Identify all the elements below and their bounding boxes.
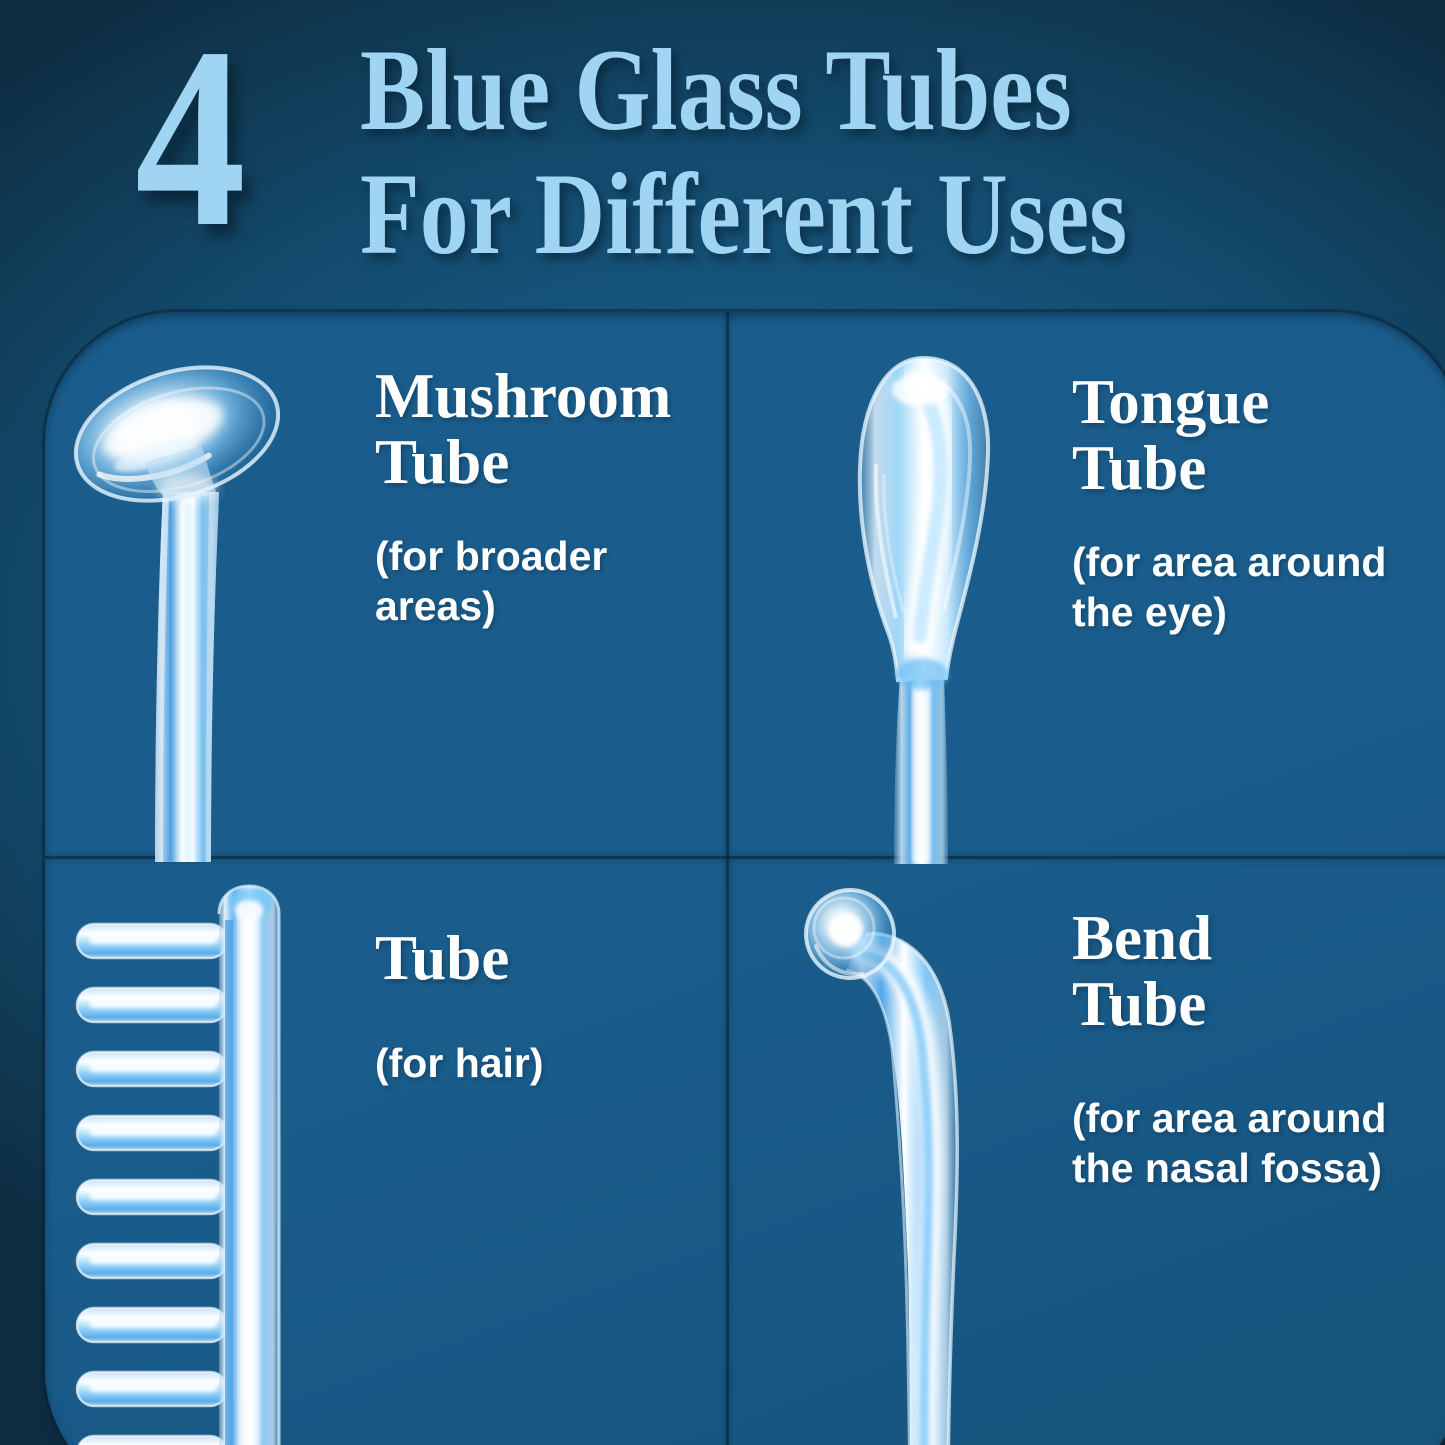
tube-cell-comb: Tube (for hair) [45,858,754,1445]
tube-name: Tube [375,926,735,992]
comb-tube-labels: Tube (for hair) [375,926,735,1088]
tube-use: (for hair) [375,1038,735,1088]
title-line-1: Blue Glass Tubes [360,24,1072,158]
tongue-tube-labels: Tongue Tube (for area around the eye) [1072,370,1445,637]
tube-use: (for area around the nasal fossa) [1072,1093,1445,1193]
tube-cell-mushroom: Mushroom Tube (for broader areas) [45,312,754,858]
tube-use: (for broader areas) [375,531,735,631]
tubes-panel: Mushroom Tube (for broader areas) [45,312,1445,1445]
tube-name: Tongue Tube [1072,370,1445,501]
tube-name: Bend Tube [1072,906,1445,1037]
comb-tube-glass-illustration [53,880,303,1445]
bend-tube-glass-illustration [792,878,1032,1445]
title-line-2: For Different Uses [360,148,1127,282]
tube-cell-bend: Bend Tube (for area around the nasal fos… [754,858,1445,1445]
mushroom-tube-glass-illustration [59,342,309,862]
tongue-tube-glass-illustration [824,344,1024,864]
tube-cell-tongue: Tongue Tube (for area around the eye) [754,312,1445,858]
bend-tube-labels: Bend Tube (for area around the nasal fos… [1072,906,1445,1193]
title-block: 4 Blue Glass Tubes For Different Uses [0,0,1445,290]
mushroom-tube-labels: Mushroom Tube (for broader areas) [375,364,735,631]
tube-use: (for area around the eye) [1072,537,1445,637]
count-number: 4 [135,8,243,266]
tube-name: Mushroom Tube [375,364,735,495]
